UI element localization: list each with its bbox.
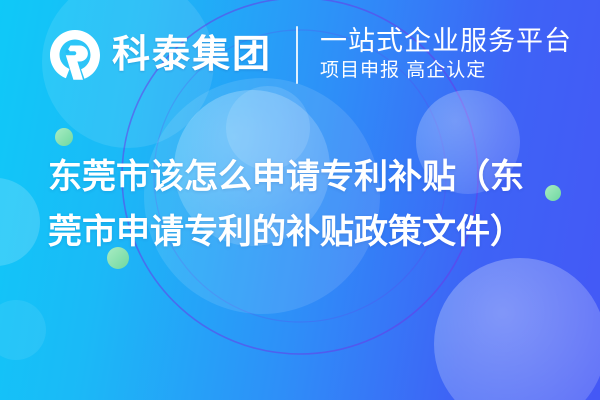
accent-dot-upper-left (55, 128, 73, 146)
bubble-left-edge (0, 178, 40, 266)
tagline-main: 一站式企业服务平台 (320, 27, 572, 56)
kotai-circle-logo-icon (48, 28, 102, 82)
bubble-bottom-right (434, 258, 600, 400)
tagline-sub: 项目申报 高企认定 (320, 59, 572, 83)
brand-name: 科泰集团 (112, 36, 272, 74)
brand-logo[interactable]: 科泰集团 (48, 28, 272, 82)
article-title: 东莞市该怎么申请专利补贴（东 莞市申请专利的补贴政策文件） (48, 150, 568, 260)
banner-header: 科泰集团 一站式企业服务平台 项目申报 高企认定 (0, 0, 600, 110)
brand-tagline: 一站式企业服务平台 项目申报 高企认定 (320, 27, 572, 83)
article-title-line-1: 东莞市该怎么申请专利补贴（东 (48, 150, 568, 205)
article-title-line-2: 莞市申请专利的补贴政策文件） (48, 205, 568, 260)
header-divider (296, 26, 298, 84)
promo-banner: 科泰集团 一站式企业服务平台 项目申报 高企认定 东莞市该怎么申请专利补贴（东 … (0, 0, 600, 400)
bubble-left-lower (0, 300, 46, 360)
